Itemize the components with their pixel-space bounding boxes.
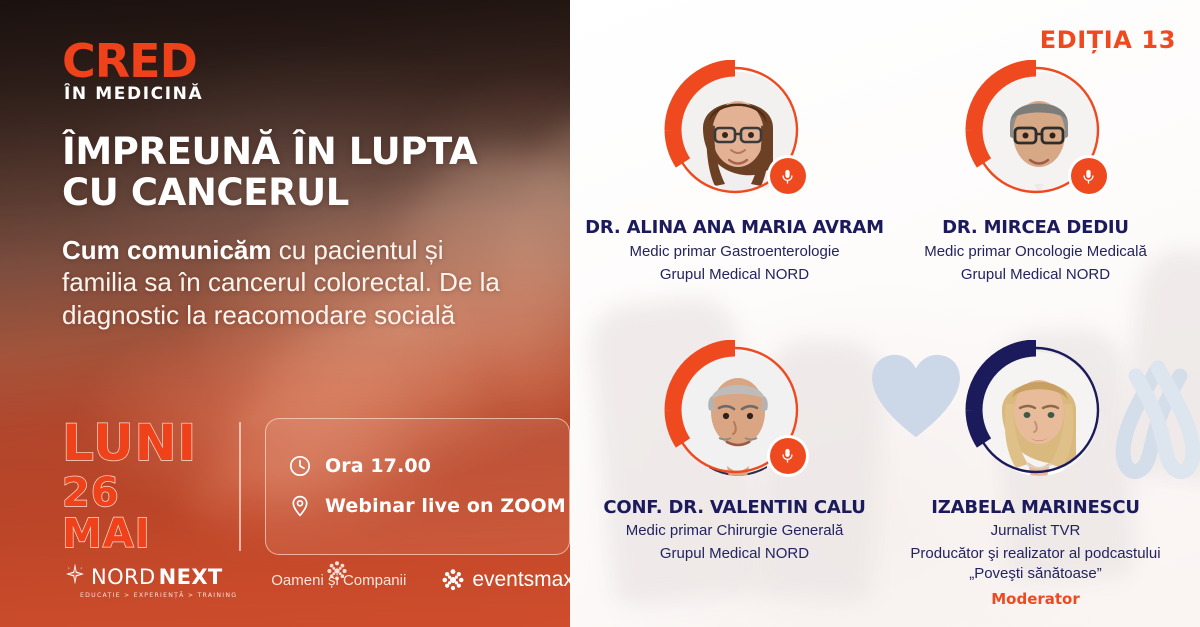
page-title: ÎMPREUNĂ ÎN LUPTA CU CANCERUL — [62, 132, 522, 213]
speaker-role-line-2: Grupul Medical NORD — [660, 265, 809, 285]
right-panel: EDIȚIA 13 — [570, 0, 1200, 627]
speaker-role-line-2: Grupul Medical NORD — [961, 265, 1110, 285]
speaker-role-line-2: Grupul Medical NORD — [660, 544, 809, 564]
speaker-role-line-1: Medic primar Chirurgie Generală — [626, 521, 844, 541]
speaker-role-line-1: Medic primar Oncologie Medicală — [924, 242, 1147, 262]
speaker-card[interactable]: DR. ALINA ANA MARIA AVRAM Medic primar G… — [584, 60, 885, 340]
brand-name: CRED — [62, 40, 522, 82]
speaker-role-line-1: Medic primar Gastroenterologie — [629, 242, 839, 262]
avatar — [661, 60, 809, 208]
edition-badge: EDIȚIA 13 — [1040, 26, 1176, 54]
webinar-poster: CRED ÎN MEDICINĂ ÎMPREUNĂ ÎN LUPTA CU CA… — [0, 0, 1200, 627]
speaker-card[interactable]: IZABELA MARINESCU Jurnalist TVR Producăt… — [885, 340, 1186, 620]
subheadline: Cum comunicăm cu pacientul și familia sa… — [62, 234, 522, 332]
speaker-role-line-2: Producător şi realizator al podcastului … — [891, 544, 1181, 584]
speaker-moderator-tag: Moderator — [991, 590, 1080, 608]
left-panel: CRED ÎN MEDICINĂ ÎMPREUNĂ ÎN LUPTA CU CA… — [0, 0, 570, 627]
avatar — [962, 340, 1110, 488]
microphone-badge-icon — [770, 158, 806, 194]
avatar — [661, 340, 809, 488]
headline-line-2: CU CANCERUL — [62, 173, 522, 214]
speaker-name: CONF. DR. VALENTIN CALU — [603, 498, 865, 519]
speaker-role-line-1: Jurnalist TVR — [991, 521, 1081, 541]
speaker-name: DR. ALINA ANA MARIA AVRAM — [585, 218, 884, 239]
speaker-name: IZABELA MARINESCU — [931, 498, 1140, 519]
brand-subtitle: ÎN MEDICINĂ — [64, 84, 522, 104]
microphone-badge-icon — [1071, 158, 1107, 194]
subheadline-emphasis: Cum comunicăm — [62, 235, 272, 265]
headline-line-1: ÎMPREUNĂ ÎN LUPTA — [62, 130, 477, 173]
avatar — [962, 60, 1110, 208]
speaker-name: DR. MIRCEA DEDIU — [942, 218, 1129, 239]
speaker-card[interactable]: CONF. DR. VALENTIN CALU Medic primar Chi… — [584, 340, 885, 620]
brand-logo: CRED ÎN MEDICINĂ — [62, 40, 522, 104]
speakers-grid: DR. ALINA ANA MARIA AVRAM Medic primar G… — [570, 0, 1200, 627]
speaker-card[interactable]: DR. MIRCEA DEDIU Medic primar Oncologie … — [885, 60, 1186, 340]
microphone-badge-icon — [770, 438, 806, 474]
avatar-ring — [962, 340, 1110, 488]
